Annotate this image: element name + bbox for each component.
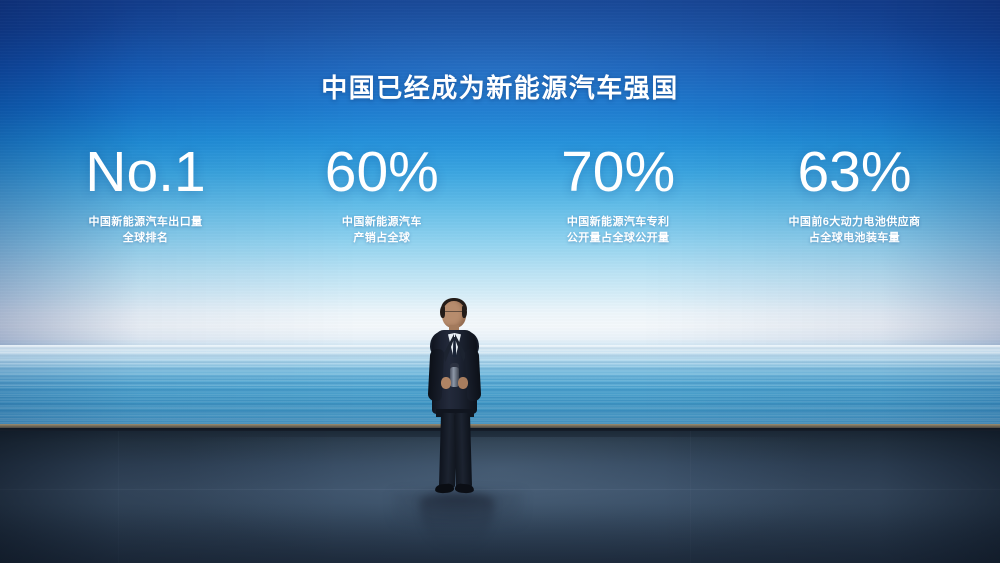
stat-caption-line: 全球排名 xyxy=(38,230,253,246)
stat-caption-line: 中国新能源汽车 xyxy=(274,214,489,230)
presenter-on-stage xyxy=(424,297,486,502)
presentation-stage-scene: 中国已经成为新能源汽车强国 No.1 中国新能源汽车出口量 全球排名 60% 中… xyxy=(0,0,1000,563)
trouser-leg-right xyxy=(454,413,472,487)
stat-caption: 中国新能源汽车 产销占全球 xyxy=(274,214,489,246)
shoe-right xyxy=(455,483,475,494)
presenter-hand-left xyxy=(441,377,451,389)
stat-block-production-share: 60% 中国新能源汽车 产销占全球 xyxy=(274,144,489,246)
stat-value: 60% xyxy=(274,144,489,201)
stat-block-export-ranking: No.1 中国新能源汽车出口量 全球排名 xyxy=(38,144,253,246)
slide-content: 中国已经成为新能源汽车强国 No.1 中国新能源汽车出口量 全球排名 60% 中… xyxy=(0,0,1000,429)
statistics-row: No.1 中国新能源汽车出口量 全球排名 60% 中国新能源汽车 产销占全球 7… xyxy=(0,144,1000,246)
stat-caption-line: 产销占全球 xyxy=(274,230,489,246)
led-presentation-screen: 中国已经成为新能源汽车强国 No.1 中国新能源汽车出口量 全球排名 60% 中… xyxy=(0,0,1000,429)
stat-caption: 中国前6大动力电池供应商 占全球电池装车量 xyxy=(747,214,962,246)
stat-caption: 中国新能源汽车专利 公开量占全球公开量 xyxy=(511,214,726,246)
stat-value: No.1 xyxy=(38,144,253,201)
stat-block-patent-share: 70% 中国新能源汽车专利 公开量占全球公开量 xyxy=(511,144,726,246)
stat-caption-line: 中国新能源汽车专利 xyxy=(511,214,726,230)
stat-caption-line: 公开量占全球公开量 xyxy=(511,230,726,246)
stat-caption-line: 中国前6大动力电池供应商 xyxy=(747,214,962,230)
shoe-left xyxy=(435,483,455,494)
stat-caption: 中国新能源汽车出口量 全球排名 xyxy=(38,214,253,246)
stat-value: 63% xyxy=(747,144,962,201)
stat-caption-line: 占全球电池装车量 xyxy=(747,230,962,246)
stat-caption-line: 中国新能源汽车出口量 xyxy=(38,214,253,230)
stat-value: 70% xyxy=(511,144,726,201)
presenter-glasses xyxy=(443,311,465,317)
presenter-arm-left xyxy=(428,349,445,402)
presenter-arm-right xyxy=(465,349,482,402)
presenter-hand-right xyxy=(458,377,468,389)
stat-block-battery-share: 63% 中国前6大动力电池供应商 占全球电池装车量 xyxy=(747,144,962,246)
slide-headline: 中国已经成为新能源汽车强国 xyxy=(0,68,1000,105)
